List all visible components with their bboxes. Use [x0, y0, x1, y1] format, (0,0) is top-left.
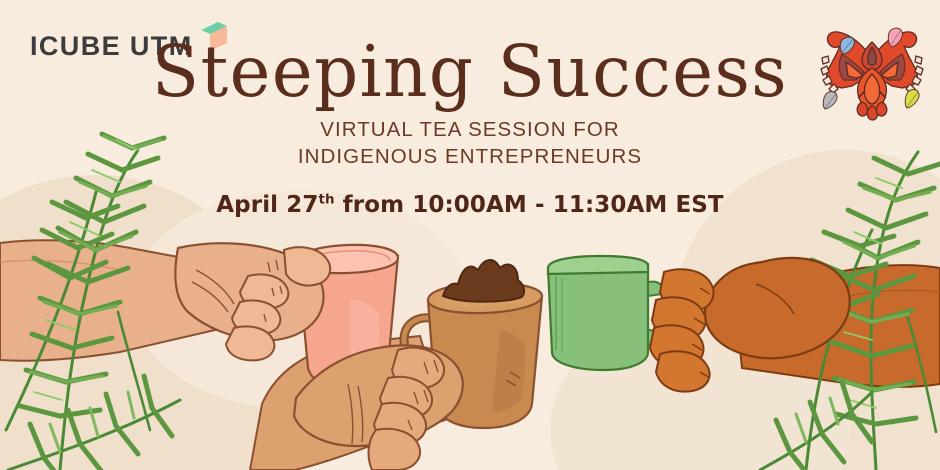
icube-utm-logo[interactable]: ICUBE UTM — [30, 33, 228, 60]
feather-yellow — [905, 90, 919, 108]
icube-cube-icon — [198, 21, 228, 55]
feather-grey — [823, 92, 837, 109]
hands-and-cups-illustration — [0, 0, 940, 470]
hand-right-dark — [650, 258, 850, 392]
cup-green — [548, 256, 662, 370]
logo-wordmark: ICUBE UTM — [30, 33, 193, 60]
event-banner: ICUBE UTM Steeping Success VIRTUAL TEA S… — [0, 0, 940, 470]
thunderbird-icon — [812, 14, 932, 122]
